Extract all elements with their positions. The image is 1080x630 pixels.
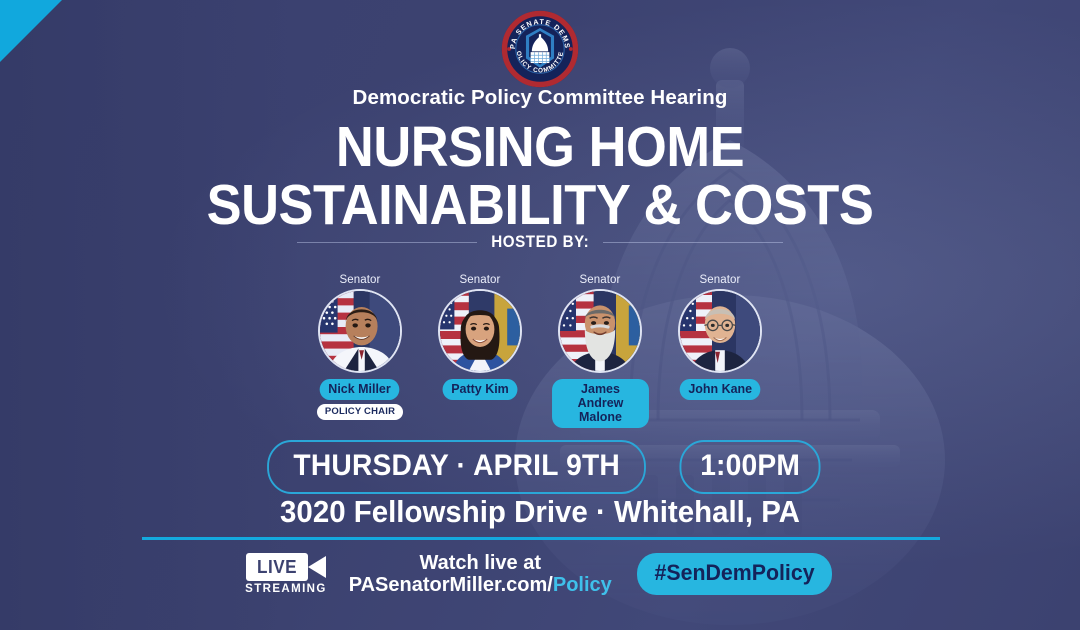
title-line-2: SUSTAINABILITY & COSTS (43, 178, 1037, 233)
avatar (678, 289, 762, 373)
senator-role-label: Senator (340, 274, 381, 286)
camera-lens-shape (308, 556, 326, 578)
live-streaming-logo: LIVE STREAMING (245, 553, 327, 595)
hosted-by-row: HOSTED BY: (0, 233, 1080, 252)
watch-live-url: PASenatorMiller.com/Policy (349, 574, 612, 596)
logo-container: PA SENATE DEMS POLICY COMMITTEE (0, 10, 1080, 88)
video-camera-icon: LIVE (246, 553, 326, 581)
senator-name-badge: Nick Miller (320, 379, 400, 400)
hashtag-badge[interactable]: #SenDemPolicy (637, 553, 832, 595)
senator-card-john-kane: Senator (670, 274, 771, 400)
avatar (438, 289, 522, 373)
watch-live-domain: PASenatorMiller.com/ (349, 574, 553, 596)
senator-card-james-andrew-malone: Senator (550, 274, 651, 428)
senator-card-patty-kim: Senator (430, 274, 531, 400)
event-time-pill: 1:00PM (679, 440, 820, 494)
senator-name-badge: Patty Kim (443, 379, 518, 400)
watch-live-line-1: Watch live at (349, 552, 612, 574)
page-kicker: Democratic Policy Committee Hearing (0, 86, 1080, 110)
event-address: 3020 Fellowship Drive · Whitehall, PA (27, 494, 1053, 530)
hosted-rule-right (603, 242, 783, 243)
event-datetime-row: THURSDAY · APRIL 9TH 1:00PM (0, 440, 1080, 494)
senator-role-label: Senator (700, 274, 741, 286)
page-title: NURSING HOME SUSTAINABILITY & COSTS (0, 120, 1080, 232)
senator-role-label: Senator (460, 274, 501, 286)
senator-name-badge: John Kane (679, 379, 760, 400)
senator-card-nick-miller: Senator (310, 274, 411, 420)
hosted-by-label: HOSTED BY: (491, 233, 589, 252)
avatar (558, 289, 642, 373)
footer-divider (142, 537, 940, 540)
event-date-pill: THURSDAY · APRIL 9TH (267, 440, 646, 494)
senator-list: Senator (0, 274, 1080, 428)
hosted-rule-left (297, 242, 477, 243)
live-label: LIVE (257, 557, 297, 578)
corner-accent-triangle (0, 0, 62, 62)
policy-chair-badge: POLICY CHAIR (317, 404, 403, 420)
title-line-1: NURSING HOME (43, 120, 1037, 175)
footer-row: LIVE STREAMING Watch live at PASenatorMi… (0, 552, 1080, 597)
watch-live-path: Policy (553, 574, 612, 596)
watch-live-text: Watch live at PASenatorMiller.com/Policy (349, 552, 612, 597)
event-poster: PA SENATE DEMS POLICY COMMITTEE Democrat… (0, 0, 1080, 630)
live-label-box: LIVE (246, 553, 308, 581)
senator-name-badge: James Andrew Malone (552, 379, 649, 428)
senator-role-label: Senator (580, 274, 621, 286)
streaming-label: STREAMING (245, 583, 327, 595)
pa-senate-dems-seal-icon: PA SENATE DEMS POLICY COMMITTEE (501, 10, 579, 88)
avatar (318, 289, 402, 373)
